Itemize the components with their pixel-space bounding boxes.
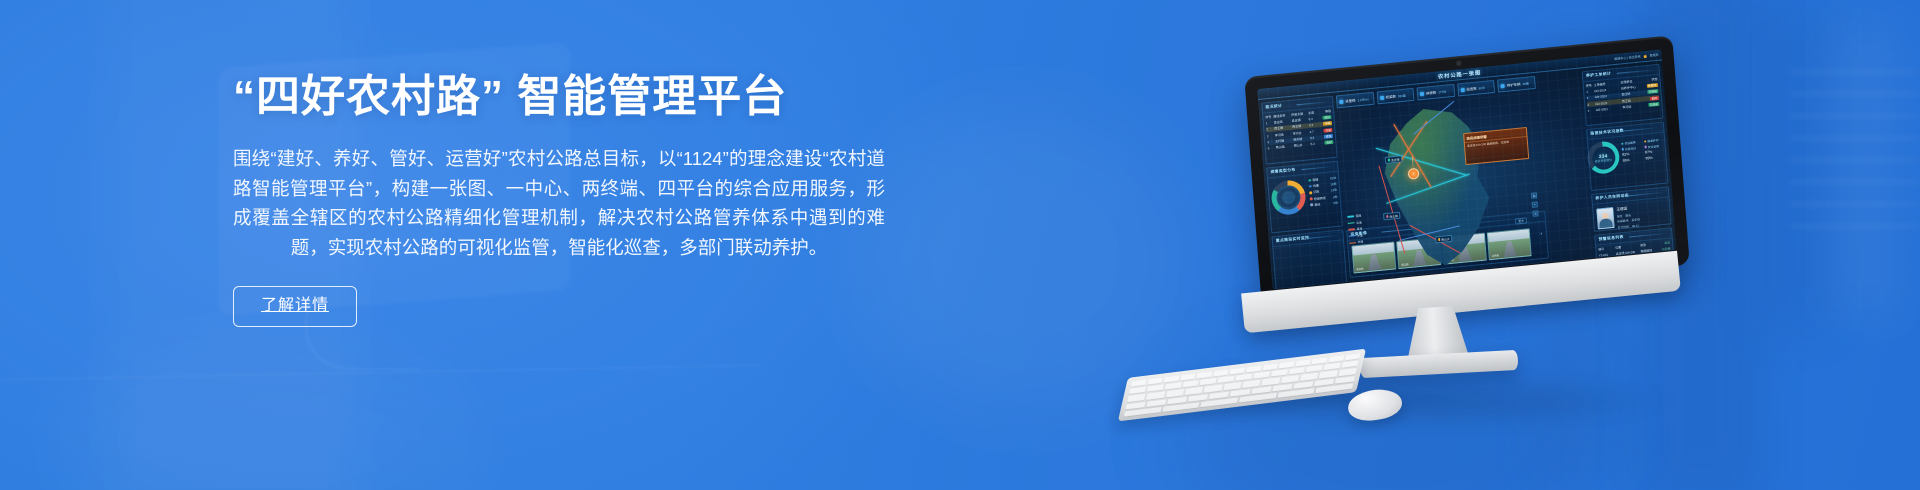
keyboard-key[interactable] xyxy=(1200,378,1217,385)
stat-dot-icon xyxy=(1645,146,1647,148)
kpi-value: 177处 xyxy=(1438,89,1446,94)
panel-work-orders: 养护工单统计 序号工单编号处理单位状态1GD-2024县养护中心处理中2GD-2… xyxy=(1582,64,1664,126)
zoom-in-icon[interactable]: ＋ xyxy=(1532,201,1538,208)
legend-swatch xyxy=(1310,197,1313,200)
panel-title: 重点路段实时监控 xyxy=(1273,230,1343,246)
table-cell: 南山道 xyxy=(1276,144,1292,150)
status-badge: 次差 xyxy=(1324,128,1333,133)
table-cell: GD-2021 xyxy=(1596,106,1621,112)
keyboard-key[interactable] xyxy=(1279,361,1295,368)
stat-dot-icon xyxy=(1621,143,1623,145)
keyboard-key[interactable] xyxy=(1324,363,1341,370)
map-legend-item: 省道 xyxy=(1348,219,1372,225)
column-header: 编号 xyxy=(1598,246,1613,251)
status-badge: 处理中 xyxy=(1646,83,1658,88)
legend-line xyxy=(1347,216,1354,218)
score-donut-value: 234 综合评定得分 xyxy=(1586,140,1620,175)
table-cell: 9.3 xyxy=(1310,135,1319,140)
detail-key: 岗位 xyxy=(1617,214,1623,219)
keyboard-key[interactable] xyxy=(1166,390,1184,398)
table-cell: 已完成 xyxy=(1646,89,1658,94)
panel-road-stats: 路况统计 序号路线名称所属乡镇长度等级1孟庄线孟庄镇8.4良好2西王路西王镇6.… xyxy=(1261,96,1337,165)
keyboard-key[interactable] xyxy=(1146,392,1164,400)
table-cell: 孟庄线 xyxy=(1274,119,1290,125)
kpi-label: 桥梁数 xyxy=(1386,94,1397,100)
kpi-card[interactable]: 巡查数92次 xyxy=(1457,80,1495,97)
status-badge: 优良 xyxy=(1324,134,1333,139)
table-cell: 处理中 xyxy=(1646,83,1658,88)
table-cell: 李河站 xyxy=(1622,103,1645,109)
table-cell: 城关镇 xyxy=(1293,136,1308,141)
kpi-label: 养护车辆 xyxy=(1507,81,1521,87)
hero-description: 围绕“建好、养好、管好、运营好”农村公路总目标，以“1124”的理念建设“农村道… xyxy=(233,144,885,262)
staff-avatar xyxy=(1596,207,1615,230)
table-cell: 李河乡 xyxy=(1293,130,1308,135)
page-title: “四好农村路” 智能管理平台 xyxy=(233,66,885,128)
keyboard-key[interactable] xyxy=(1218,376,1235,383)
road-icon xyxy=(1339,99,1343,103)
stat-dot-icon xyxy=(1622,148,1624,150)
legend-swatch xyxy=(1308,179,1311,182)
keyboard-key[interactable] xyxy=(1129,387,1146,394)
table-cell: 次差 xyxy=(1320,128,1332,133)
keyboard-key[interactable] xyxy=(1319,371,1337,379)
status-badge: 良好 xyxy=(1323,115,1332,120)
table-cell: 5.2 xyxy=(1310,142,1319,147)
detail-value: 路长 xyxy=(1625,213,1631,218)
map-legend: 国道省道县道乡道村道 xyxy=(1347,213,1373,246)
keyboard-key[interactable] xyxy=(1246,365,1262,372)
vehicle-icon xyxy=(1501,83,1505,87)
map-area[interactable]: ! 孟庄镇 西王镇 南山乡 路段病害预警 孟庄线 K8+200 路面破损， xyxy=(1339,92,1547,281)
webcam-icon xyxy=(1457,61,1461,65)
legend-value: 32处 xyxy=(1330,176,1337,181)
panel-live-monitor: 重点路段实时监控 孟庄线 K12+300 实时画面 ‹ › xyxy=(1271,229,1349,289)
legend-label: 其他 xyxy=(1314,202,1320,207)
table-cell: 3 xyxy=(1587,102,1593,107)
map-legend-item: 县道 xyxy=(1348,226,1372,232)
legend-line xyxy=(1348,229,1355,231)
staff-card: 王建国 岗位路长所属路线孟庄线打卡时间08:42 xyxy=(1595,201,1668,229)
legend-label: 国道 xyxy=(1356,214,1362,219)
kpi-card[interactable]: 病害数177处 xyxy=(1417,84,1455,101)
keyboard-key[interactable] xyxy=(1281,375,1299,383)
bridge-icon xyxy=(1380,95,1384,99)
keyboard-key[interactable] xyxy=(1204,385,1222,393)
kpi-card[interactable]: 养护车辆48辆 xyxy=(1497,76,1535,93)
legend-value: 9处 xyxy=(1333,194,1338,198)
legend-line xyxy=(1348,222,1355,224)
table-cell: 2 xyxy=(1587,96,1593,101)
table-cell: 良好 xyxy=(1319,115,1331,120)
column-header: 状态 xyxy=(1658,240,1670,245)
keyboard-key[interactable] xyxy=(1271,370,1288,377)
hero-banner: “四好农村路” 智能管理平台 围绕“建好、养好、管好、运营好”农村公路总目标，以… xyxy=(0,0,1920,490)
table-cell: 北环路 xyxy=(1275,138,1291,144)
kpi-label: 总里程 xyxy=(1345,98,1356,104)
legend-label: 桥涵病害 xyxy=(1314,195,1326,200)
legend-label: 省道 xyxy=(1356,220,1362,225)
kpi-label: 病害数 xyxy=(1426,90,1437,96)
table-cell: 1 xyxy=(1586,89,1592,94)
computer-illustration: 农村公路一张图 数据中心 | 退出系统 管理员 总里程1.2万km桥梁数386座… xyxy=(1130,24,1750,474)
keyboard-key[interactable] xyxy=(1328,355,1344,362)
keyboard-key[interactable] xyxy=(1338,368,1356,376)
keyboard-key[interactable] xyxy=(1147,385,1164,392)
status-badge: 中等 xyxy=(1323,121,1332,126)
table-cell: 4 xyxy=(1267,140,1273,145)
legend-swatch xyxy=(1309,185,1312,188)
table-cell: 优良 xyxy=(1321,134,1333,139)
table-cell: 南山乡 xyxy=(1294,143,1309,148)
keyboard-key[interactable] xyxy=(1180,374,1196,381)
keyboard-key[interactable] xyxy=(1182,380,1199,387)
column-header: 序号 xyxy=(1586,83,1592,88)
keyboard-key[interactable] xyxy=(1288,367,1305,374)
keyboard-key[interactable] xyxy=(1253,372,1270,379)
keyboard-key[interactable] xyxy=(1262,378,1280,386)
table-cell: 8.4 xyxy=(1308,116,1317,121)
hero-copy: “四好农村路” 智能管理平台 围绕“建好、养好、管好、运营好”农村公路总目标，以… xyxy=(233,66,885,327)
status-badge: 已完成 xyxy=(1647,89,1659,94)
table-cell: 4.7 xyxy=(1309,129,1318,134)
column-header: 所属乡镇 xyxy=(1291,111,1306,116)
column-header: 状态 xyxy=(1645,77,1657,82)
panel-staff-status: 养护人员在岗动态 王建国 岗位路长所属路线孟庄线打卡时间08:42 xyxy=(1591,186,1672,232)
legend-swatch xyxy=(1309,191,1312,194)
table-cell: 李河线 xyxy=(1275,132,1291,138)
legend-label: 村道 xyxy=(1358,240,1364,245)
table-cell: 已完成 xyxy=(1647,102,1659,107)
kpi-value: 1.2万km xyxy=(1357,97,1368,102)
keyboard-key[interactable] xyxy=(1345,353,1361,360)
legend-label: 县道 xyxy=(1357,227,1363,232)
map-legend-item: 国道 xyxy=(1347,213,1371,219)
legend-label: 乡道 xyxy=(1357,233,1363,238)
table-cell: 孟庄镇 xyxy=(1292,117,1307,122)
map-legend-item: 乡道 xyxy=(1349,232,1373,238)
panel-title: 路面技术状况指数 xyxy=(1587,123,1663,140)
kpi-label: 巡查数 xyxy=(1466,86,1477,92)
status-badge: 超时 xyxy=(1650,96,1659,101)
alert-icon xyxy=(1420,91,1424,95)
staff-details: 王建国 岗位路长所属路线孟庄线打卡时间08:42 xyxy=(1616,202,1667,226)
keyboard-key[interactable] xyxy=(1196,372,1212,379)
table-cell: 1 xyxy=(1266,121,1272,126)
column-header: 等级 xyxy=(1319,109,1331,114)
keyboard-key[interactable] xyxy=(1341,361,1358,368)
legend-value: 18处 xyxy=(1330,182,1337,187)
keyboard-key[interactable] xyxy=(1213,370,1229,377)
locate-icon[interactable]: ◎ xyxy=(1532,210,1538,217)
legend-value: 6处 xyxy=(1333,200,1338,204)
keyboard-key[interactable] xyxy=(1295,359,1311,366)
kpi-value: 48辆 xyxy=(1522,81,1529,86)
road-network xyxy=(1339,92,1547,281)
column-header: 路线名称 xyxy=(1273,113,1289,119)
user-avatar-icon[interactable] xyxy=(1644,54,1647,57)
column-header: 序号 xyxy=(1265,114,1271,119)
column-header: 类型 xyxy=(1640,242,1656,248)
table-cell: 3 xyxy=(1267,134,1273,139)
table-cell: 良好 xyxy=(1321,140,1333,145)
kpi-value: 92次 xyxy=(1478,85,1485,90)
road-stats-table: 序号路线名称所属乡镇长度等级1孟庄线孟庄镇8.4良好2西王路西王镇6.1中等3李… xyxy=(1263,106,1336,153)
table-cell: 2 xyxy=(1266,127,1272,132)
panel-title: 病害类型分布 xyxy=(1267,162,1337,178)
patrol-icon xyxy=(1460,87,1464,91)
kpi-card[interactable]: 桥梁数386座 xyxy=(1376,88,1414,105)
legend-swatch xyxy=(1310,204,1313,207)
keyboard-key[interactable] xyxy=(1300,373,1318,381)
status-badge: 已完成 xyxy=(1648,102,1660,107)
table-cell: 西王镇 xyxy=(1292,124,1307,129)
table-cell: 6.1 xyxy=(1309,123,1318,128)
stat-dot-icon xyxy=(1644,140,1646,142)
map-callout: 路段病害预警 孟庄线 K8+200 路面破损，已派单 xyxy=(1463,127,1529,165)
legend-value: 13处 xyxy=(1331,188,1338,193)
keyboard-key[interactable] xyxy=(1312,357,1328,364)
keyboard-key[interactable] xyxy=(1229,367,1245,374)
legend-line xyxy=(1349,235,1356,237)
legend-line xyxy=(1349,242,1356,244)
column-header: 长度 xyxy=(1308,110,1317,115)
dashboard: 农村公路一张图 数据中心 | 退出系统 管理员 总里程1.2万km桥梁数386座… xyxy=(1257,49,1676,289)
keyboard-key[interactable] xyxy=(1242,380,1260,388)
layers-icon[interactable]: ▤ xyxy=(1531,192,1537,199)
table-cell: 4 xyxy=(1588,108,1594,113)
keyboard-key[interactable] xyxy=(1147,378,1163,385)
index-stat-grid: 优良路率路面养护桥梁完好安全设施92%87%95%89% xyxy=(1621,138,1666,163)
keyboard-key[interactable] xyxy=(1223,382,1241,390)
monitor-screen: 农村公路一张图 数据中心 | 退出系统 管理员 总里程1.2万km桥梁数386座… xyxy=(1257,49,1676,289)
keyboard-key[interactable] xyxy=(1235,374,1252,381)
legend-label: 裂缝 xyxy=(1312,178,1318,183)
learn-more-button[interactable]: 了解详情 xyxy=(233,286,357,327)
detail-value: 孟庄线 xyxy=(1631,218,1640,223)
table-cell: 5 xyxy=(1268,146,1274,151)
table-cell: 西王路 xyxy=(1274,125,1290,131)
detail-key: 打卡时间 xyxy=(1618,224,1629,229)
keyboard-key[interactable] xyxy=(1185,387,1203,395)
detail-value: 08:42 xyxy=(1632,223,1639,228)
status-badge: 良好 xyxy=(1325,140,1334,145)
kpi-value: 386座 xyxy=(1398,93,1406,98)
legend-label: 沉陷 xyxy=(1313,190,1319,195)
table-cell: 超时 xyxy=(1647,96,1659,101)
legend-label: 坑槽 xyxy=(1313,184,1319,189)
defect-legend: 裂缝32处坑槽18处沉陷13处桥涵病害9处其他6处 xyxy=(1308,176,1338,207)
keyboard-key[interactable] xyxy=(1127,394,1145,402)
kpi-card[interactable]: 总里程1.2万km xyxy=(1336,92,1374,109)
keyboard-key[interactable] xyxy=(1306,365,1323,372)
keyboard-key[interactable] xyxy=(1164,376,1180,383)
keyboard-key[interactable] xyxy=(1164,383,1181,390)
detail-key: 所属路线 xyxy=(1617,219,1628,224)
table-cell: 中等 xyxy=(1320,121,1332,126)
keyboard-key[interactable] xyxy=(1262,363,1278,370)
keyboard-key[interactable] xyxy=(1131,380,1147,387)
